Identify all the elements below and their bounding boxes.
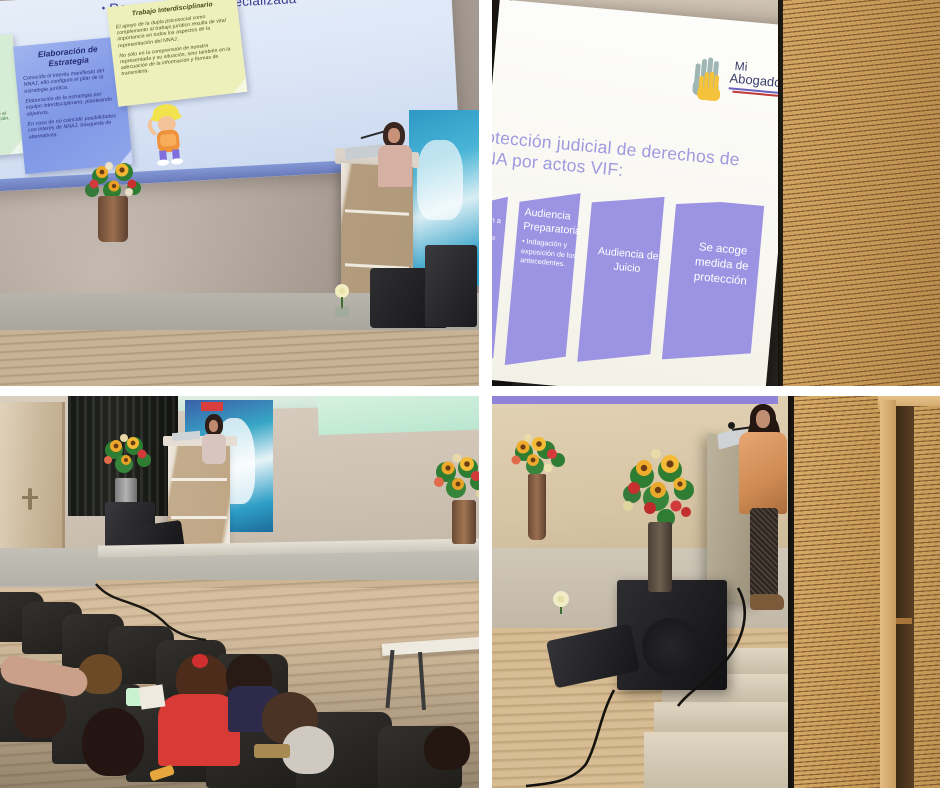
panel-top-left-slide: •Representación Especializada Entrevista…	[0, 0, 479, 386]
audience-head	[424, 726, 470, 770]
banner-red-block	[201, 402, 223, 411]
process-step-4: Se acoge medida de protección	[677, 239, 767, 294]
presenter-face	[756, 410, 770, 428]
presenter-patterned-trousers	[750, 508, 778, 598]
flower-arrangement-left	[100, 430, 154, 484]
note-line: En caso de no coincidir posibilidades co…	[27, 113, 122, 141]
flower-vase-back	[528, 474, 546, 540]
sticky-note-trabajo-interdisciplinario: Trabajo Interdisciplinario El apoyo de l…	[107, 0, 248, 107]
step-title: Audiencia de Juicio	[591, 245, 663, 279]
note-line: Son confidenciales, salvo autorización d…	[0, 104, 14, 128]
flower-vase	[98, 196, 128, 242]
note-line: Se desarrollan por sí/la abogado/a en co…	[0, 78, 12, 107]
audio-cable	[502, 586, 772, 788]
process-step-2: Audiencia Preparatoria • Indagación y ex…	[520, 206, 587, 269]
door-handle[interactable]	[28, 488, 32, 510]
hair-tie-red	[192, 654, 208, 668]
presenter-orange-blazer	[739, 432, 787, 514]
photo-collage: •Representación Especializada Entrevista…	[0, 0, 940, 788]
microphone-head	[728, 422, 735, 429]
slide-content: Mi Abogado otección judicial de derechos…	[492, 0, 799, 386]
projected-slide-band	[492, 396, 778, 404]
wooden-armrest	[254, 744, 290, 758]
projection-screen-edge	[317, 396, 479, 435]
presenter-body	[378, 145, 412, 187]
flower-vase-front	[648, 522, 672, 592]
step-title: Se acoge medida de protección	[677, 239, 767, 291]
step-subtitle: • Indagación y exposición de los anteced…	[520, 236, 584, 269]
cartoon-child-icon	[142, 98, 194, 168]
panel-top-right-slide: Mi Abogado otección judicial de derechos…	[492, 0, 940, 386]
flower-arrangement-front	[620, 446, 698, 532]
presenter-face	[388, 128, 400, 143]
wooden-door	[0, 402, 65, 570]
note-line: Las entrevistas deben ser con calidad y …	[0, 52, 9, 81]
step-title: Audiencia Preparatoria	[523, 206, 587, 239]
panel-bottom-left-auditorium	[0, 396, 479, 788]
step-subtitle: ia ción de s res	[492, 227, 513, 268]
slatted-wood-wall	[783, 0, 940, 386]
door-frame	[880, 400, 896, 788]
door-handle-bar[interactable]	[22, 496, 38, 499]
loudspeaker	[425, 245, 477, 327]
panel-bottom-right-speaker	[492, 396, 940, 788]
door-latch[interactable]	[896, 618, 912, 624]
audience-head	[82, 708, 144, 776]
flower-vase-right	[452, 500, 476, 544]
presenter-body	[202, 434, 226, 464]
stage-cable	[90, 582, 210, 642]
presenter-face	[209, 420, 218, 432]
stage-front-wood	[0, 330, 479, 386]
process-step-3: Audiencia de Juicio	[591, 245, 663, 282]
audience-head	[14, 686, 66, 738]
recessed-door[interactable]	[914, 406, 940, 788]
bullet-glyph: •	[101, 3, 105, 14]
door-recess	[896, 406, 914, 788]
notepad	[139, 684, 166, 709]
single-rose-icon	[331, 283, 353, 317]
